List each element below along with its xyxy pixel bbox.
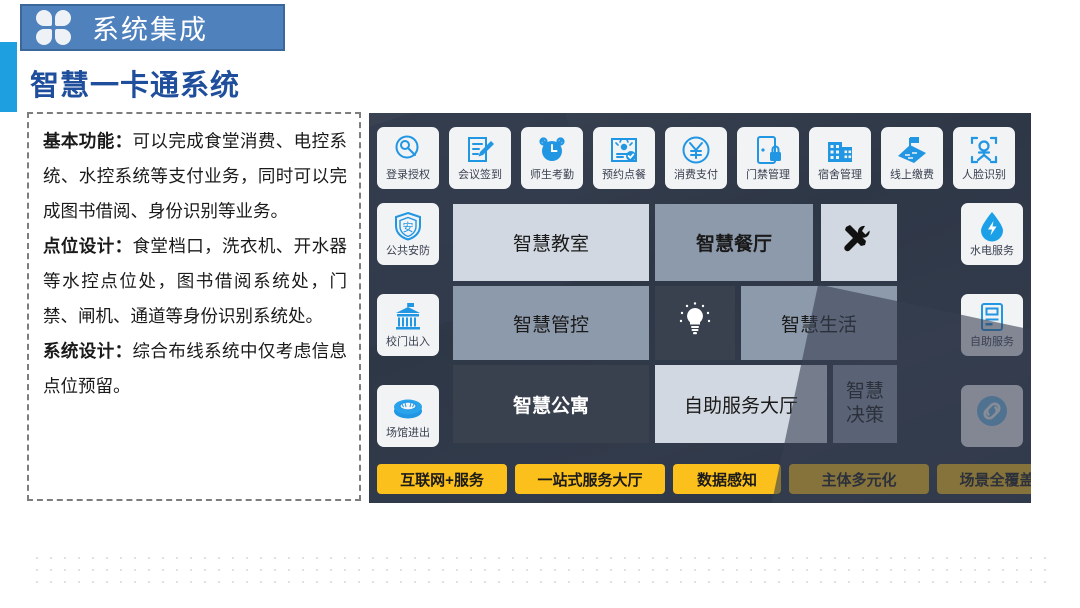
document-pen-icon xyxy=(464,132,496,168)
footer-button-label: 互联网+服务 xyxy=(400,469,484,490)
chip-label: 水电服务 xyxy=(970,245,1014,258)
footer-button-multi-entity[interactable]: 主体多元化 xyxy=(789,464,929,494)
face-recognition-icon xyxy=(968,132,1000,168)
chip-label: 人脸识别 xyxy=(962,169,1006,182)
tile-smart-decision[interactable]: 智慧 决策 xyxy=(833,365,897,443)
key-circle-icon xyxy=(392,132,424,168)
tile-smart-apartment[interactable]: 智慧公寓 xyxy=(453,365,649,443)
alarm-clock-icon xyxy=(536,132,568,168)
decorative-dot-grid xyxy=(30,552,1050,588)
id-card-check-icon xyxy=(608,132,640,168)
door-lock-icon xyxy=(752,132,784,168)
four-petal-icon xyxy=(36,10,76,46)
chip-label: 自助服务 xyxy=(970,336,1014,349)
footer-button-label: 场景全覆盖 xyxy=(959,469,1031,490)
chip-label: 消费支付 xyxy=(674,169,718,182)
chip-access-control[interactable]: 门禁管理 xyxy=(737,127,799,189)
stadium-icon xyxy=(392,390,424,426)
chip-school-gate[interactable]: 校门出入 xyxy=(377,294,439,356)
school-gate-icon xyxy=(392,299,424,335)
footer-button-row: 互联网+服务 一站式服务大厅 数据感知 主体多元化 场景全覆盖 xyxy=(369,464,1031,494)
tools-icon xyxy=(839,220,879,266)
chip-public-security[interactable]: 安 公共安防 xyxy=(377,203,439,265)
chip-label: 公共安防 xyxy=(386,245,430,258)
chip-login-auth[interactable]: 登录授权 xyxy=(377,127,439,189)
slide-root: 系统集成 智慧一卡通系统 基本功能：可以完成食堂消费、电控系统、水控系统等支付业… xyxy=(0,0,1080,608)
tile-label: 智慧教室 xyxy=(513,229,589,256)
tile-label: 智慧 决策 xyxy=(846,380,884,428)
tile-smart-classroom[interactable]: 智慧教室 xyxy=(453,204,649,281)
description-label-1: 基本功能： xyxy=(43,131,133,151)
footer-button-internet-plus[interactable]: 互联网+服务 xyxy=(377,464,507,494)
chip-dormitory[interactable]: 宿舍管理 xyxy=(809,127,871,189)
description-paragraph-3: 系统设计：综合布线系统中仅考虑信息点位预留。 xyxy=(43,334,347,404)
description-paragraph-2: 点位设计：食堂档口，洗衣机、开水器等水控点位处，图书借阅系统处，门禁、闸机、通道… xyxy=(43,229,347,334)
footer-button-one-stop-hall[interactable]: 一站式服务大厅 xyxy=(515,464,665,494)
tile-label: 智慧生活 xyxy=(781,310,857,337)
chip-venue-access[interactable]: 场馆进出 xyxy=(377,385,439,447)
tile-smart-canteen[interactable]: 智慧餐厅 xyxy=(655,204,813,281)
chip-label: 场馆进出 xyxy=(386,427,430,440)
chip-meal-booking[interactable]: 预约点餐 xyxy=(593,127,655,189)
description-label-2: 点位设计： xyxy=(43,236,133,256)
chip-face-recognition[interactable]: 人脸识别 xyxy=(953,127,1015,189)
link-chain-icon xyxy=(972,390,1012,432)
tile-label: 自助服务大厅 xyxy=(684,391,798,418)
tile-lightbulb[interactable] xyxy=(655,286,735,360)
footer-button-label: 一站式服务大厅 xyxy=(537,469,642,490)
tile-label: 智慧公寓 xyxy=(513,391,589,418)
footer-button-label: 主体多元化 xyxy=(821,469,896,490)
chip-self-service[interactable]: 自助服务 xyxy=(961,294,1023,356)
chip-label: 会议签到 xyxy=(458,169,502,182)
tile-label: 智慧管控 xyxy=(513,310,589,337)
tile-label-line2: 决策 xyxy=(846,404,884,428)
section-badge: 系统集成 xyxy=(20,4,285,51)
tile-self-service-hall[interactable]: 自助服务大厅 xyxy=(655,365,827,443)
yuan-circle-icon xyxy=(680,132,712,168)
chip-link-more[interactable] xyxy=(961,385,1023,447)
description-paragraph-1: 基本功能：可以完成食堂消费、电控系统、水控系统等支付业务，同时可以完成图书借阅、… xyxy=(43,124,347,229)
lightbulb-icon xyxy=(676,301,714,345)
tile-label: 智慧餐厅 xyxy=(696,229,772,256)
building-icon xyxy=(824,132,856,168)
footer-button-full-coverage[interactable]: 场景全覆盖 xyxy=(937,464,1031,494)
page-title: 智慧一卡通系统 xyxy=(30,62,240,104)
chip-label: 登录授权 xyxy=(386,169,430,182)
shield-safety-icon: 安 xyxy=(392,208,424,244)
footer-button-label: 数据感知 xyxy=(697,469,757,490)
chip-label: 宿舍管理 xyxy=(818,169,862,182)
chip-label: 门禁管理 xyxy=(746,169,790,182)
chip-utility-service[interactable]: 水电服务 xyxy=(961,203,1023,265)
chip-payment[interactable]: 消费支付 xyxy=(665,127,727,189)
chip-online-payment[interactable]: 线上缴费 xyxy=(881,127,943,189)
chip-attendance[interactable]: 师生考勤 xyxy=(521,127,583,189)
chip-label: 师生考勤 xyxy=(530,169,574,182)
description-box: 基本功能：可以完成食堂消费、电控系统、水控系统等支付业务，同时可以完成图书借阅、… xyxy=(27,112,361,501)
chip-label: 线上缴费 xyxy=(890,169,934,182)
left-accent-bar xyxy=(0,42,17,112)
tile-tools[interactable] xyxy=(821,204,897,281)
pos-terminal-icon xyxy=(896,132,928,168)
chip-label: 预约点餐 xyxy=(602,169,646,182)
system-diagram-panel: 登录授权 会议签到 师生考勤 预约点餐 xyxy=(369,113,1031,503)
chip-label: 校门出入 xyxy=(386,336,430,349)
tile-smart-control[interactable]: 智慧管控 xyxy=(453,286,649,360)
description-label-3: 系统设计： xyxy=(43,341,133,361)
chip-meeting-signin[interactable]: 会议签到 xyxy=(449,127,511,189)
water-drop-bolt-icon xyxy=(976,208,1008,244)
tile-label-line1: 智慧 xyxy=(846,380,884,404)
section-badge-label: 系统集成 xyxy=(92,8,208,47)
tile-smart-life[interactable]: 智慧生活 xyxy=(741,286,897,360)
svg-text:安: 安 xyxy=(403,220,414,234)
kiosk-icon xyxy=(976,299,1008,335)
footer-button-data-sensing[interactable]: 数据感知 xyxy=(673,464,781,494)
